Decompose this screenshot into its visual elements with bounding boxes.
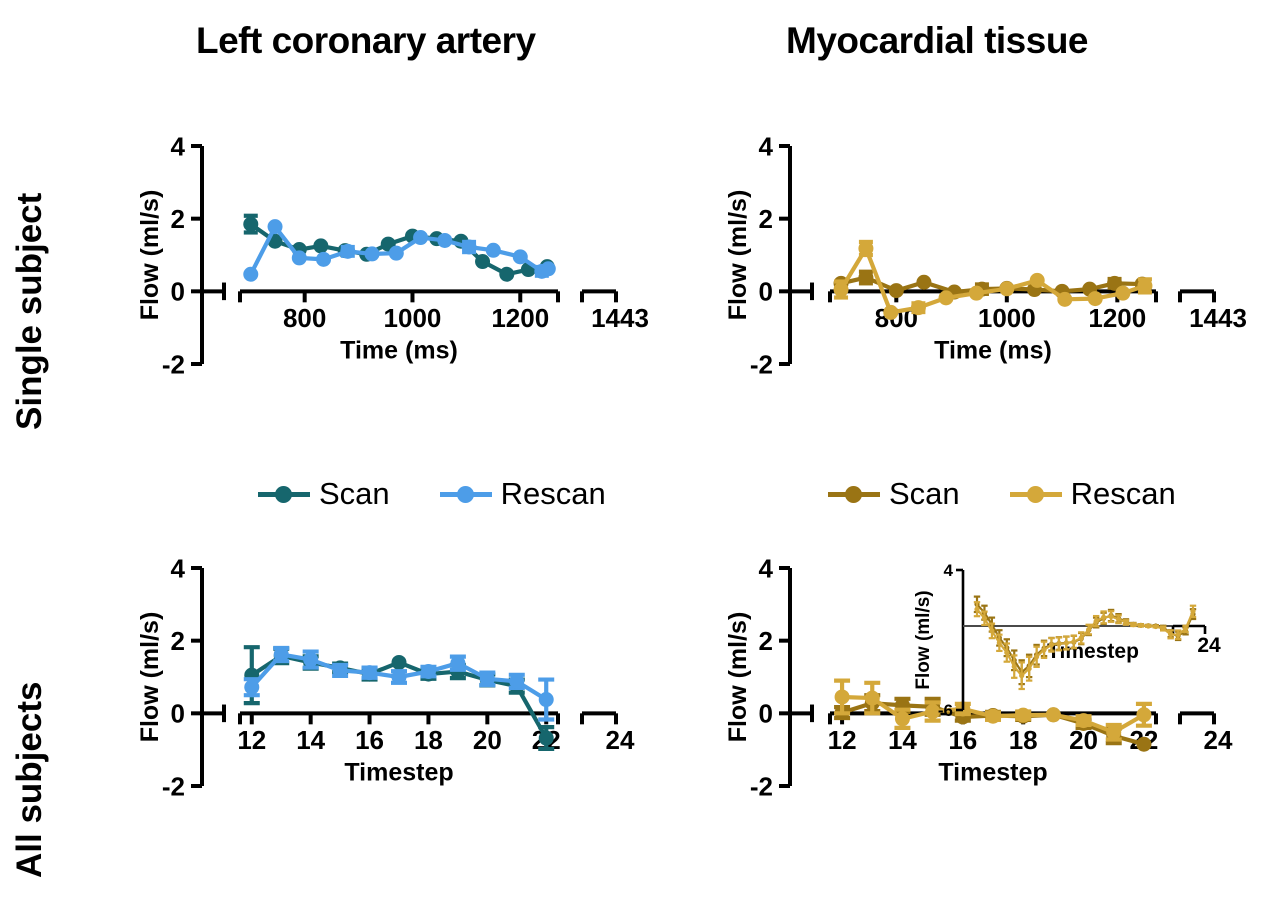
y-tick-label: -2 [162, 771, 185, 801]
data-point-marker [1030, 273, 1045, 288]
data-point-marker [1046, 707, 1061, 722]
inset-data-point-marker [1049, 642, 1054, 647]
y-tick-label: 0 [171, 277, 185, 307]
legend-dot-myo-scan [845, 486, 862, 503]
inset-data-point-marker [982, 616, 987, 621]
x-axis-break-label: 1443 [591, 303, 649, 333]
data-point-marker [858, 270, 873, 285]
data-point-marker [313, 238, 328, 253]
data-point-marker [274, 647, 289, 662]
inset-data-point-marker [1064, 640, 1069, 645]
inset-data-point-marker [1123, 620, 1128, 625]
y-tick-label: 4 [171, 131, 186, 161]
legend-label-myo-scan: Scan [889, 478, 960, 509]
chart-panel-myo-single-subject: -2024Flow (ml/s)800100012001443Time (ms) [718, 130, 1258, 460]
data-point-marker [895, 711, 910, 726]
inset-data-point-marker [1108, 614, 1113, 619]
data-point-marker [969, 286, 984, 301]
inset-data-point-marker [989, 628, 994, 633]
row-label-single-subject: Single subject [10, 193, 50, 430]
y-axis-title: Flow (ml/s) [724, 612, 752, 743]
data-point-marker [480, 671, 495, 686]
x-tick-label: 1000 [978, 303, 1036, 333]
data-point-marker [392, 655, 407, 670]
y-tick-label: 0 [759, 277, 773, 307]
x-tick-label: 18 [414, 725, 443, 755]
data-point-marker [513, 249, 528, 264]
legend-myo: Scan Rescan [828, 478, 1176, 509]
inset-data-point-marker [1012, 664, 1017, 669]
inset-data-point-marker [1079, 635, 1084, 640]
data-point-marker [1137, 278, 1152, 293]
data-point-marker [509, 674, 524, 689]
x-axis-title: Time (ms) [340, 336, 458, 364]
x-axis-title: Timestep [344, 758, 453, 786]
inset-data-point-marker [1190, 609, 1195, 614]
series-layer [243, 216, 556, 282]
data-point-marker [413, 230, 428, 245]
x-tick-label: 16 [355, 725, 384, 755]
y-tick-label: 2 [759, 626, 773, 656]
data-point-marker [316, 252, 331, 267]
x-axis-break-label: 1443 [1189, 303, 1247, 333]
line-marker-icon [1010, 485, 1062, 503]
inset-y-tick-label: -6 [938, 701, 953, 720]
legend-dot-lca-rescan [457, 486, 474, 503]
data-point-marker [1076, 713, 1091, 728]
inset-data-point-marker [1101, 615, 1106, 620]
data-point-marker [916, 275, 931, 290]
legend-label-myo-rescan: Rescan [1071, 478, 1176, 509]
data-point-marker [883, 305, 898, 320]
data-point-marker [292, 250, 307, 265]
inset-data-point-marker [1146, 623, 1151, 628]
inset-data-point-marker [974, 607, 979, 612]
data-point-marker [834, 282, 849, 297]
data-point-marker [1057, 292, 1072, 307]
inset-data-point-marker [1161, 626, 1166, 631]
data-point-marker [421, 664, 436, 679]
inset-data-point-marker [1168, 632, 1173, 637]
x-axis-break-label: 24 [606, 725, 635, 755]
x-tick-label: 16 [948, 725, 977, 755]
y-tick-label: 2 [759, 204, 773, 234]
y-tick-label: 2 [171, 204, 185, 234]
data-point-marker [333, 663, 348, 678]
inset-data-point-marker [1183, 626, 1188, 631]
inset-data-point-marker [997, 640, 1002, 645]
data-point-marker [835, 689, 850, 704]
inset-data-point-marker [1131, 622, 1136, 627]
inset-data-point-marker [1138, 623, 1143, 628]
data-point-marker [475, 254, 490, 269]
data-point-marker [541, 261, 556, 276]
data-point-marker [486, 243, 501, 258]
y-axis-title: Flow (ml/s) [724, 190, 752, 321]
data-point-marker [1088, 291, 1103, 306]
y-tick-label: 0 [171, 699, 185, 729]
data-point-marker [268, 219, 283, 234]
data-point-marker [865, 691, 880, 706]
inset-y-axis-title: Flow (ml/s) [913, 590, 934, 689]
x-tick-label: 800 [283, 303, 326, 333]
x-tick-label: 12 [237, 725, 266, 755]
x-tick-label: 1200 [1088, 303, 1146, 333]
data-point-marker [911, 300, 926, 315]
inset-chart: 4-6Flow (ml/s)24Timestep [913, 561, 1221, 720]
inset-y-tick-label: 4 [944, 561, 954, 580]
inset-data-point-marker [1056, 641, 1061, 646]
data-point-marker [462, 240, 477, 255]
data-point-marker [244, 680, 259, 695]
legend-label-lca-scan: Scan [319, 478, 390, 509]
data-point-marker [303, 652, 318, 667]
data-point-marker [939, 290, 954, 305]
data-point-marker [1136, 737, 1151, 752]
chart-panel-lca-single-subject: -2024Flow (ml/s)800100012001443Time (ms) [130, 130, 650, 460]
x-tick-label: 20 [473, 725, 502, 755]
legend-dot-myo-rescan [1027, 486, 1044, 503]
chart-panel-lca-all-subjects: -2024Flow (ml/s)12141618202224Timestep [130, 552, 650, 892]
row-label-all-subjects: All subjects [10, 682, 50, 878]
data-point-marker [437, 233, 452, 248]
x-tick-label: 1000 [384, 303, 442, 333]
data-point-marker [340, 244, 355, 259]
inset-data-point-marker [1004, 650, 1009, 655]
x-axis-break-label: 24 [1204, 725, 1233, 755]
line-marker-icon [440, 485, 492, 503]
y-tick-label: 2 [171, 626, 185, 656]
legend-lca: Scan Rescan [258, 478, 606, 509]
inset-data-point-marker [1086, 627, 1091, 632]
x-axis-title: Time (ms) [934, 336, 1052, 364]
data-point-marker [858, 241, 873, 256]
data-point-marker [389, 246, 404, 261]
x-tick-label: 12 [828, 725, 857, 755]
data-point-marker [999, 281, 1014, 296]
data-point-marker [362, 665, 377, 680]
x-axis-title: Timestep [938, 758, 1047, 786]
data-point-marker [1106, 725, 1121, 740]
legend-dot-lca-scan [275, 486, 292, 503]
data-point-marker [243, 217, 258, 232]
legend-entry-lca-scan[interactable]: Scan [258, 478, 390, 509]
legend-label-lca-rescan: Rescan [501, 478, 606, 509]
inset-data-point-marker [1153, 624, 1158, 629]
data-point-marker [1115, 286, 1130, 301]
legend-entry-myo-scan[interactable]: Scan [828, 478, 960, 509]
inset-data-point-marker [1041, 647, 1046, 652]
y-tick-label: -2 [750, 349, 773, 379]
data-point-marker [986, 709, 1001, 724]
column-title-left-coronary-artery: Left coronary artery [196, 20, 536, 62]
legend-entry-lca-rescan[interactable]: Rescan [440, 478, 606, 509]
x-tick-label: 18 [1009, 725, 1038, 755]
data-point-marker [539, 692, 554, 707]
inset-data-point-marker [1116, 617, 1121, 622]
data-point-marker [365, 246, 380, 261]
figure-root: Left coronary artery Myocardial tissue S… [0, 0, 1284, 915]
data-point-marker [392, 670, 407, 685]
column-title-myocardial-tissue: Myocardial tissue [786, 20, 1088, 62]
x-tick-label: 1200 [491, 303, 549, 333]
data-point-marker [243, 267, 258, 282]
data-point-marker [539, 731, 554, 746]
line-marker-icon [828, 485, 880, 503]
series-layer [834, 681, 1152, 752]
x-tick-label: 14 [296, 725, 325, 755]
y-tick-label: 4 [759, 131, 774, 161]
y-tick-label: -2 [162, 349, 185, 379]
inset-data-point-marker [1019, 673, 1024, 678]
data-point-marker [889, 283, 904, 298]
y-tick-label: 4 [171, 553, 186, 583]
y-axis-title: Flow (ml/s) [136, 190, 164, 321]
data-point-marker [499, 267, 514, 282]
data-point-marker [1136, 707, 1151, 722]
data-point-marker [450, 656, 465, 671]
line-marker-icon [258, 485, 310, 503]
inset-data-point-marker [1094, 619, 1099, 624]
y-tick-label: 4 [759, 553, 774, 583]
y-axis-title: Flow (ml/s) [136, 612, 164, 743]
legend-entry-myo-rescan[interactable]: Rescan [1010, 478, 1176, 509]
inset-data-point-marker [1071, 639, 1076, 644]
inset-data-point-marker [1176, 632, 1181, 637]
inset-x-axis-break-label: 24 [1197, 634, 1221, 657]
data-point-marker [1016, 708, 1031, 723]
y-tick-label: -2 [750, 771, 773, 801]
chart-panel-myo-all-subjects: -2024Flow (ml/s)12141618202224Timestep4-… [718, 552, 1258, 892]
inset-data-point-marker [1034, 654, 1039, 659]
inset-data-point-marker [1027, 666, 1032, 671]
y-tick-label: 0 [759, 699, 773, 729]
series-layer [244, 647, 554, 749]
